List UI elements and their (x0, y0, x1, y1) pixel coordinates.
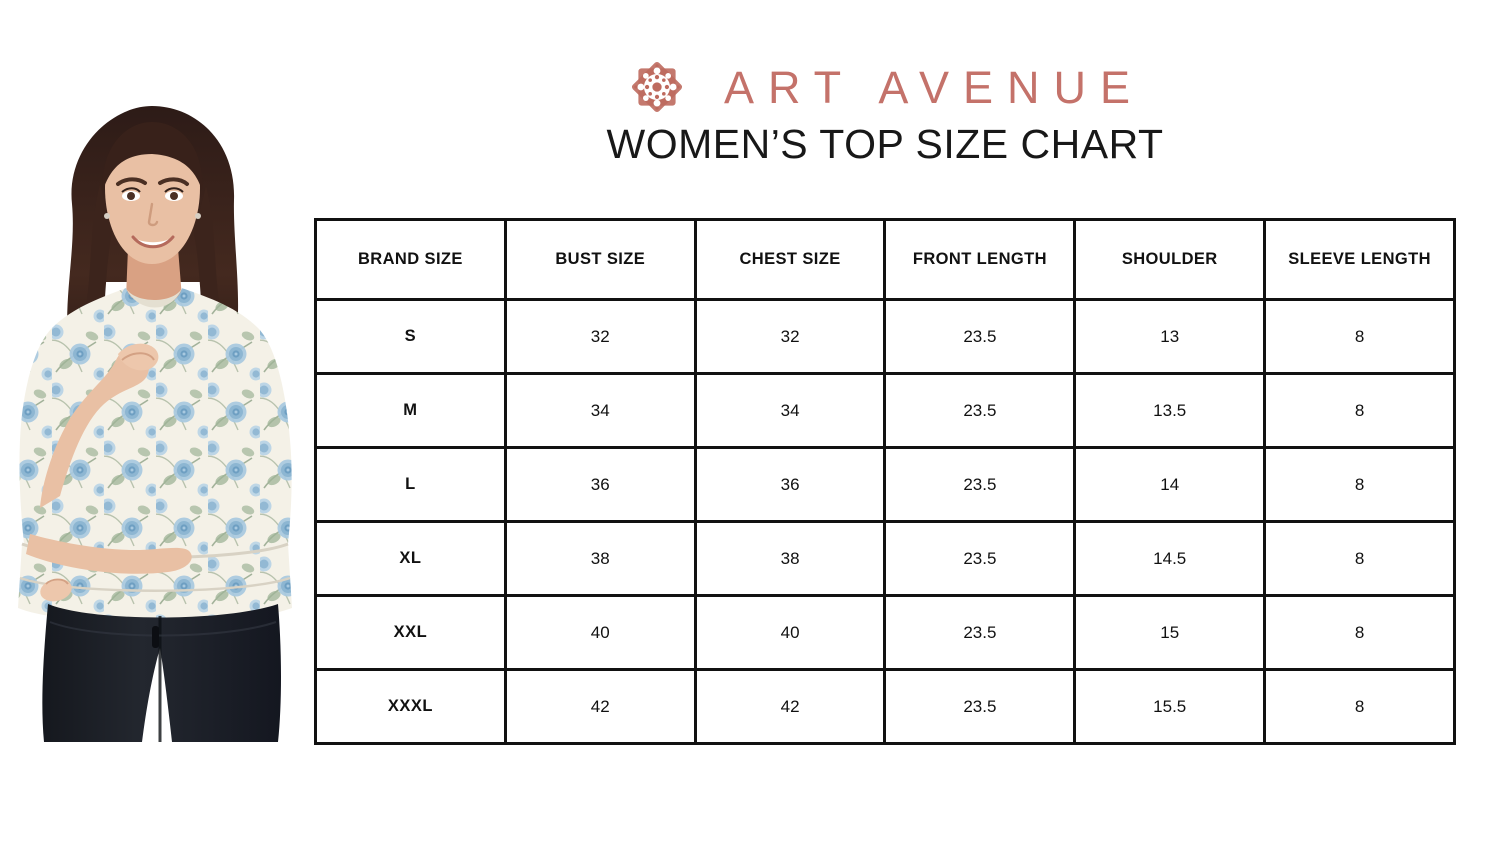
cell-brand-size: XL (316, 522, 506, 596)
cell-front-length: 23.5 (885, 448, 1075, 522)
cell-bust-size: 34 (505, 374, 695, 448)
cell-sleeve-length: 8 (1265, 374, 1455, 448)
cell-front-length: 23.5 (885, 670, 1075, 744)
cell-bust-size: 42 (505, 670, 695, 744)
cell-front-length: 23.5 (885, 374, 1075, 448)
size-chart-table: BRAND SIZE BUST SIZE CHEST SIZE FRONT LE… (314, 218, 1456, 745)
size-chart-table-container: BRAND SIZE BUST SIZE CHEST SIZE FRONT LE… (314, 218, 1456, 742)
table-row: XL 38 38 23.5 14.5 8 (316, 522, 1455, 596)
column-header-brand-size: BRAND SIZE (316, 220, 506, 300)
table-header-row: BRAND SIZE BUST SIZE CHEST SIZE FRONT LE… (316, 220, 1455, 300)
table-row: S 32 32 23.5 13 8 (316, 300, 1455, 374)
table-row: M 34 34 23.5 13.5 8 (316, 374, 1455, 448)
page-title: WOMEN’S TOP SIZE CHART (310, 122, 1460, 167)
cell-bust-size: 40 (505, 596, 695, 670)
table-header: BRAND SIZE BUST SIZE CHEST SIZE FRONT LE… (316, 220, 1455, 300)
cell-sleeve-length: 8 (1265, 670, 1455, 744)
cell-sleeve-length: 8 (1265, 300, 1455, 374)
cell-bust-size: 36 (505, 448, 695, 522)
table-row: XXL 40 40 23.5 15 8 (316, 596, 1455, 670)
model-illustration (0, 92, 310, 742)
column-header-shoulder: SHOULDER (1075, 220, 1265, 300)
cell-brand-size: XXL (316, 596, 506, 670)
table-body: S 32 32 23.5 13 8 M 34 34 23.5 13.5 8 L (316, 300, 1455, 744)
cell-shoulder: 13 (1075, 300, 1265, 374)
model-photo (0, 92, 310, 742)
cell-front-length: 23.5 (885, 522, 1075, 596)
cell-front-length: 23.5 (885, 596, 1075, 670)
cell-chest-size: 36 (695, 448, 885, 522)
cell-shoulder: 15.5 (1075, 670, 1265, 744)
cell-brand-size: XXXL (316, 670, 506, 744)
cell-chest-size: 34 (695, 374, 885, 448)
table-row: L 36 36 23.5 14 8 (316, 448, 1455, 522)
cell-chest-size: 42 (695, 670, 885, 744)
cell-chest-size: 32 (695, 300, 885, 374)
cell-sleeve-length: 8 (1265, 522, 1455, 596)
cell-bust-size: 38 (505, 522, 695, 596)
cell-bust-size: 32 (505, 300, 695, 374)
cell-brand-size: S (316, 300, 506, 374)
cell-brand-size: M (316, 374, 506, 448)
cell-chest-size: 40 (695, 596, 885, 670)
mandala-rosette-icon (626, 56, 688, 118)
column-header-bust-size: BUST SIZE (505, 220, 695, 300)
floral-top (19, 288, 291, 562)
cell-sleeve-length: 8 (1265, 596, 1455, 670)
cell-sleeve-length: 8 (1265, 448, 1455, 522)
cell-chest-size: 38 (695, 522, 885, 596)
table-row: XXXL 42 42 23.5 15.5 8 (316, 670, 1455, 744)
column-header-sleeve-length: SLEEVE LENGTH (1265, 220, 1455, 300)
cell-shoulder: 13.5 (1075, 374, 1265, 448)
column-header-chest-size: CHEST SIZE (695, 220, 885, 300)
brand-name: ART AVENUE (718, 65, 1144, 110)
brand-lockup: ART AVENUE (310, 48, 1460, 126)
cell-shoulder: 14.5 (1075, 522, 1265, 596)
cell-shoulder: 15 (1075, 596, 1265, 670)
size-chart-page: ART AVENUE WOMEN’S TOP SIZE CHART BRAND … (0, 0, 1500, 844)
column-header-front-length: FRONT LENGTH (885, 220, 1075, 300)
cell-shoulder: 14 (1075, 448, 1265, 522)
cell-brand-size: L (316, 448, 506, 522)
cell-front-length: 23.5 (885, 300, 1075, 374)
